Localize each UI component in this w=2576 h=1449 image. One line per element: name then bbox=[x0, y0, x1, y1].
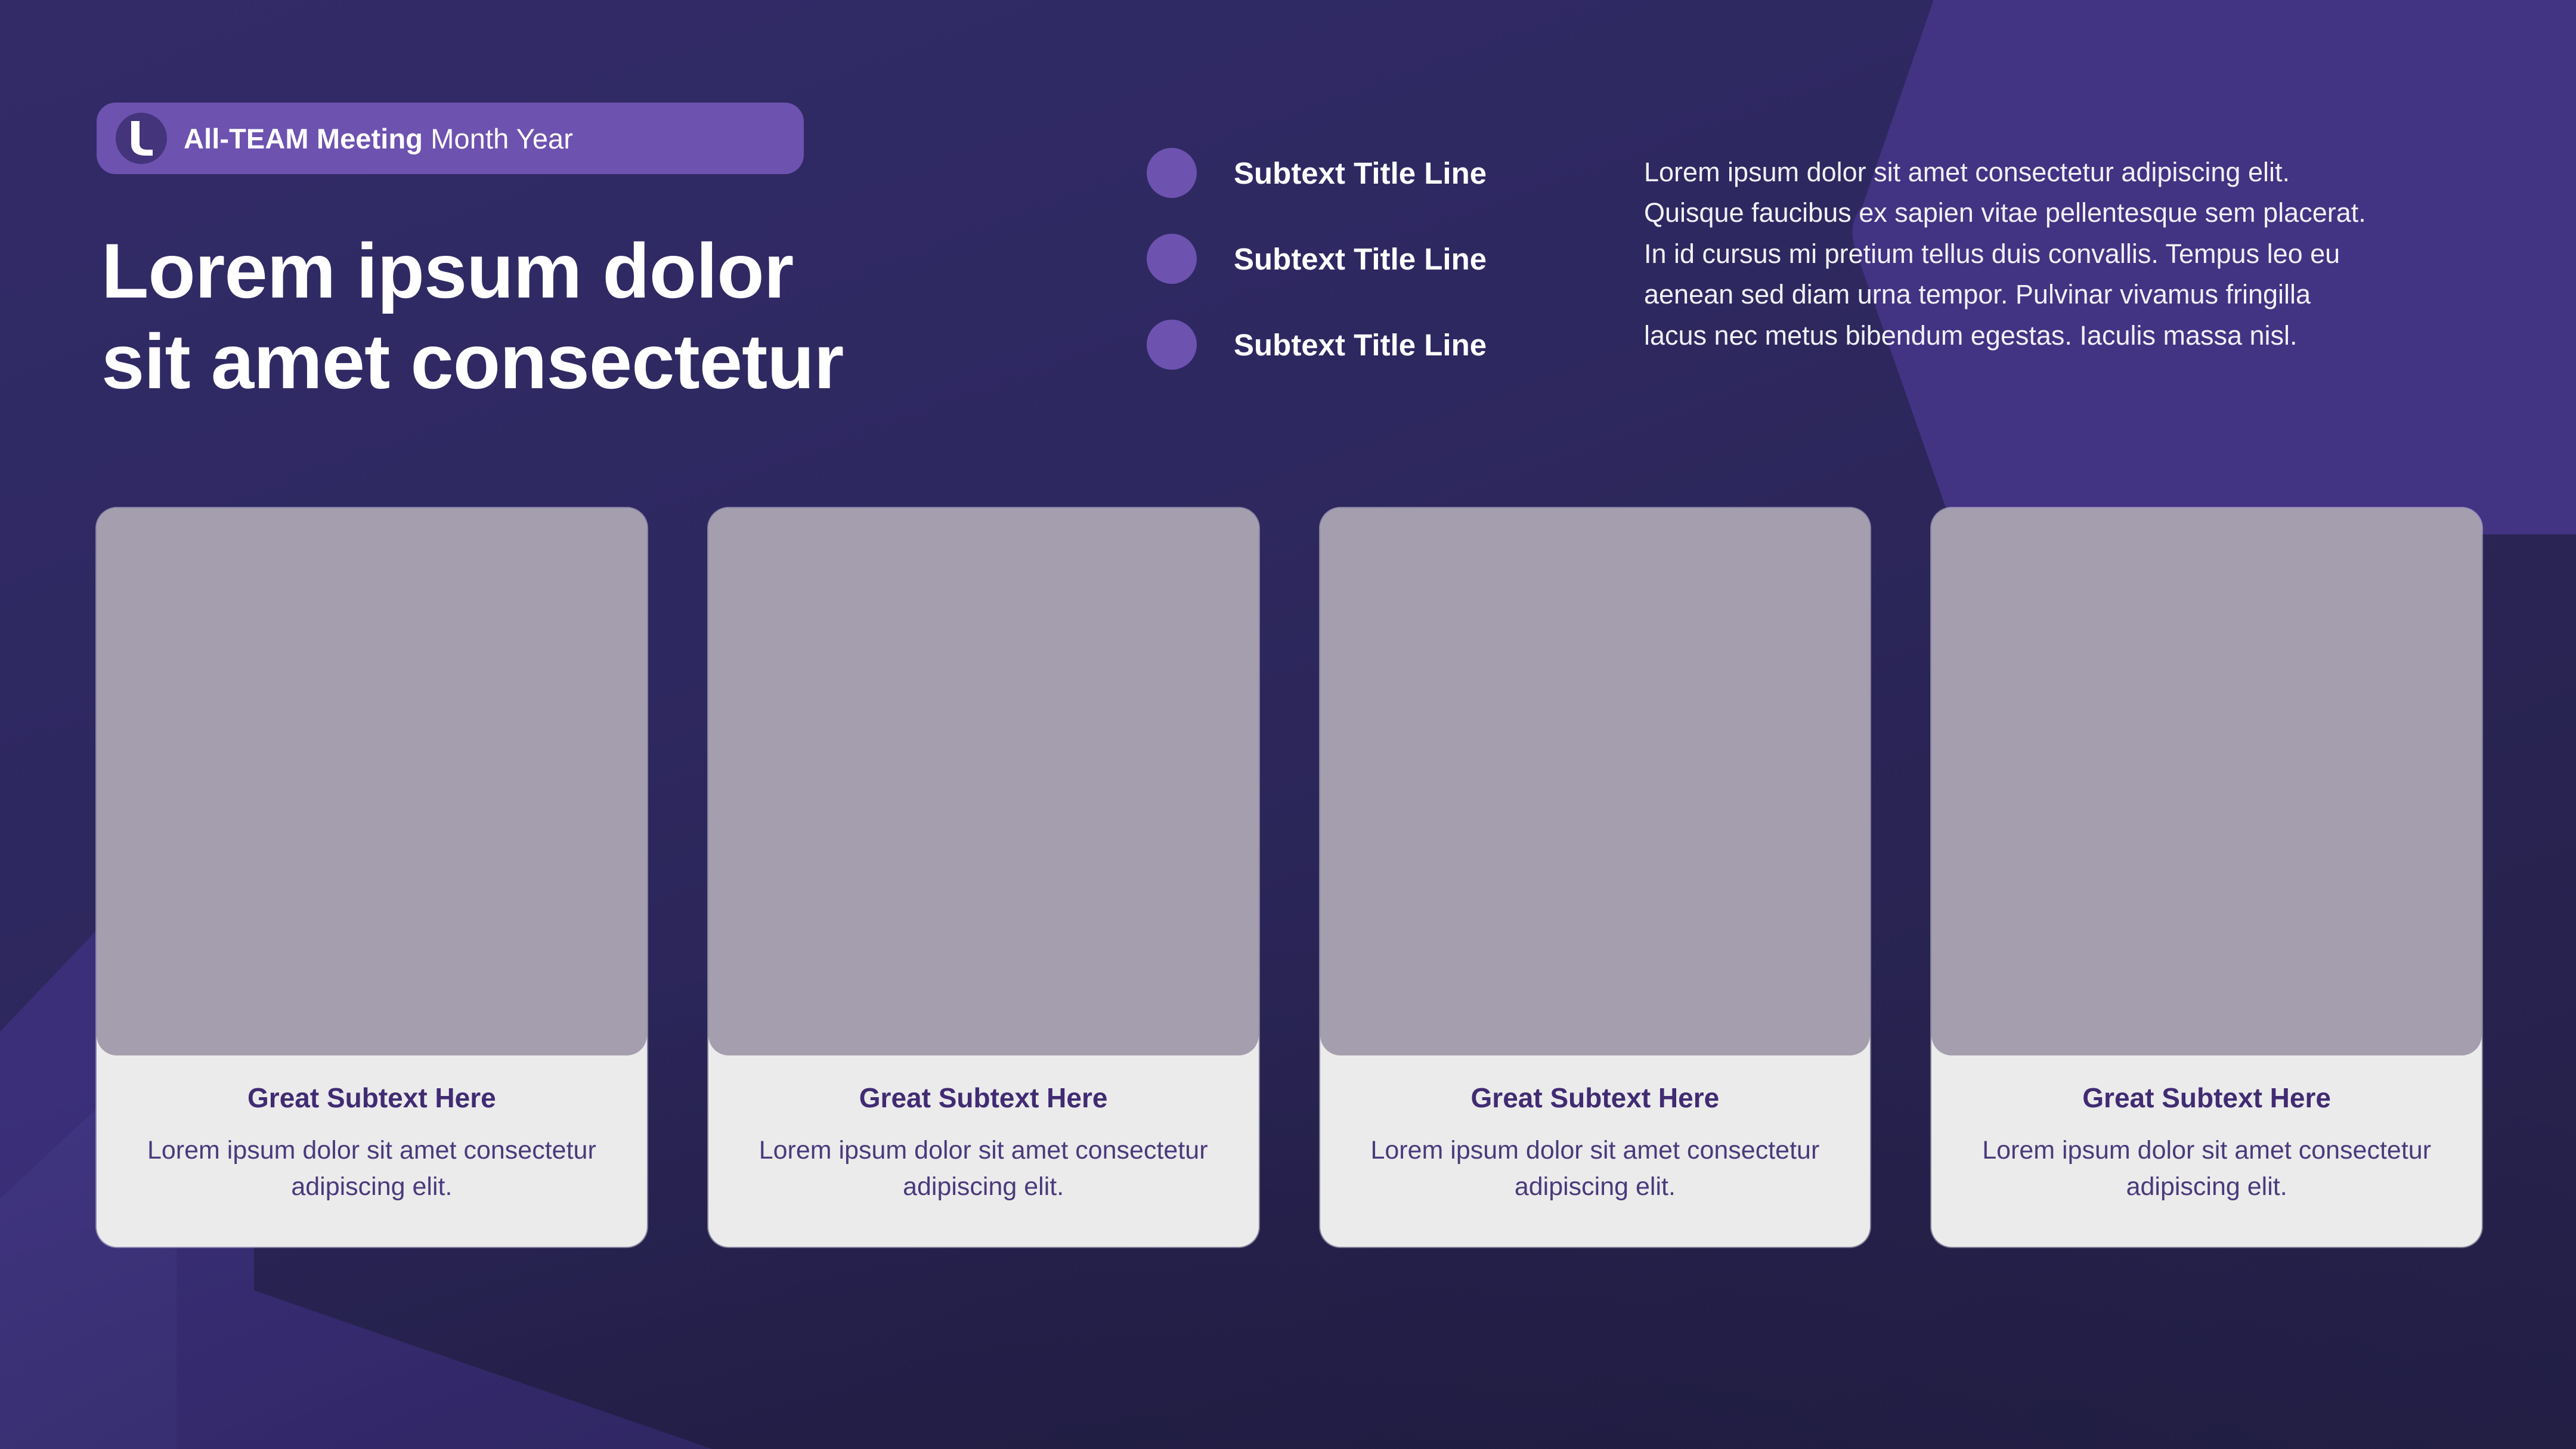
content-card[interactable]: Great Subtext Here Lorem ipsum dolor sit… bbox=[1320, 508, 1871, 1247]
list-item[interactable]: Subtext Title Line bbox=[1147, 320, 1487, 370]
card-body: Great Subtext Here Lorem ipsum dolor sit… bbox=[97, 1055, 647, 1247]
meeting-badge[interactable]: All-TEAM Meeting Month Year bbox=[97, 103, 804, 174]
page-title-line-1: Lorem ipsum dolor bbox=[101, 225, 1067, 316]
card-grid: Great Subtext Here Lorem ipsum dolor sit… bbox=[97, 508, 2482, 1247]
bullet-dot-icon bbox=[1147, 320, 1197, 370]
card-title: Great Subtext Here bbox=[1967, 1082, 2446, 1114]
card-description: Lorem ipsum dolor sit amet consectetur a… bbox=[1356, 1132, 1835, 1205]
card-body: Great Subtext Here Lorem ipsum dolor sit… bbox=[1931, 1055, 2482, 1247]
card-image-placeholder bbox=[1320, 508, 1871, 1055]
card-description: Lorem ipsum dolor sit amet consectetur a… bbox=[1967, 1132, 2446, 1205]
content-card[interactable]: Great Subtext Here Lorem ipsum dolor sit… bbox=[708, 508, 1259, 1247]
card-title: Great Subtext Here bbox=[744, 1082, 1223, 1114]
bullet-dot-icon bbox=[1147, 234, 1197, 284]
list-item[interactable]: Subtext Title Line bbox=[1147, 234, 1487, 284]
bullet-label: Subtext Title Line bbox=[1234, 327, 1487, 363]
content-card[interactable]: Great Subtext Here Lorem ipsum dolor sit… bbox=[1931, 508, 2482, 1247]
slide-canvas: All-TEAM Meeting Month Year Lorem ipsum … bbox=[0, 0, 2576, 1449]
card-title: Great Subtext Here bbox=[132, 1082, 611, 1114]
meeting-badge-text: All-TEAM Meeting Month Year bbox=[184, 122, 573, 155]
card-image-placeholder bbox=[97, 508, 647, 1055]
slide-header: All-TEAM Meeting Month Year Lorem ipsum … bbox=[0, 0, 2576, 477]
list-item[interactable]: Subtext Title Line bbox=[1147, 148, 1487, 198]
subtext-bullet-list: Subtext Title Line Subtext Title Line Su… bbox=[1147, 148, 1487, 370]
card-body: Great Subtext Here Lorem ipsum dolor sit… bbox=[708, 1055, 1259, 1247]
page-title: Lorem ipsum dolor sit amet consectetur bbox=[101, 225, 1067, 407]
meeting-badge-date: Month Year bbox=[431, 123, 573, 154]
card-description: Lorem ipsum dolor sit amet consectetur a… bbox=[132, 1132, 611, 1205]
card-description: Lorem ipsum dolor sit amet consectetur a… bbox=[744, 1132, 1223, 1205]
bullet-label: Subtext Title Line bbox=[1234, 156, 1487, 191]
card-title: Great Subtext Here bbox=[1356, 1082, 1835, 1114]
card-image-placeholder bbox=[708, 508, 1259, 1055]
bullet-label: Subtext Title Line bbox=[1234, 241, 1487, 277]
bullet-dot-icon bbox=[1147, 148, 1197, 198]
card-body: Great Subtext Here Lorem ipsum dolor sit… bbox=[1320, 1055, 1871, 1247]
card-image-placeholder bbox=[1931, 508, 2482, 1055]
stylized-l-logo-icon bbox=[116, 113, 167, 164]
content-card[interactable]: Great Subtext Here Lorem ipsum dolor sit… bbox=[97, 508, 647, 1247]
header-paragraph: Lorem ipsum dolor sit amet consectetur a… bbox=[1644, 152, 2368, 356]
page-title-line-2: sit amet consectetur bbox=[101, 316, 1067, 407]
meeting-badge-title: All-TEAM Meeting bbox=[184, 123, 423, 154]
